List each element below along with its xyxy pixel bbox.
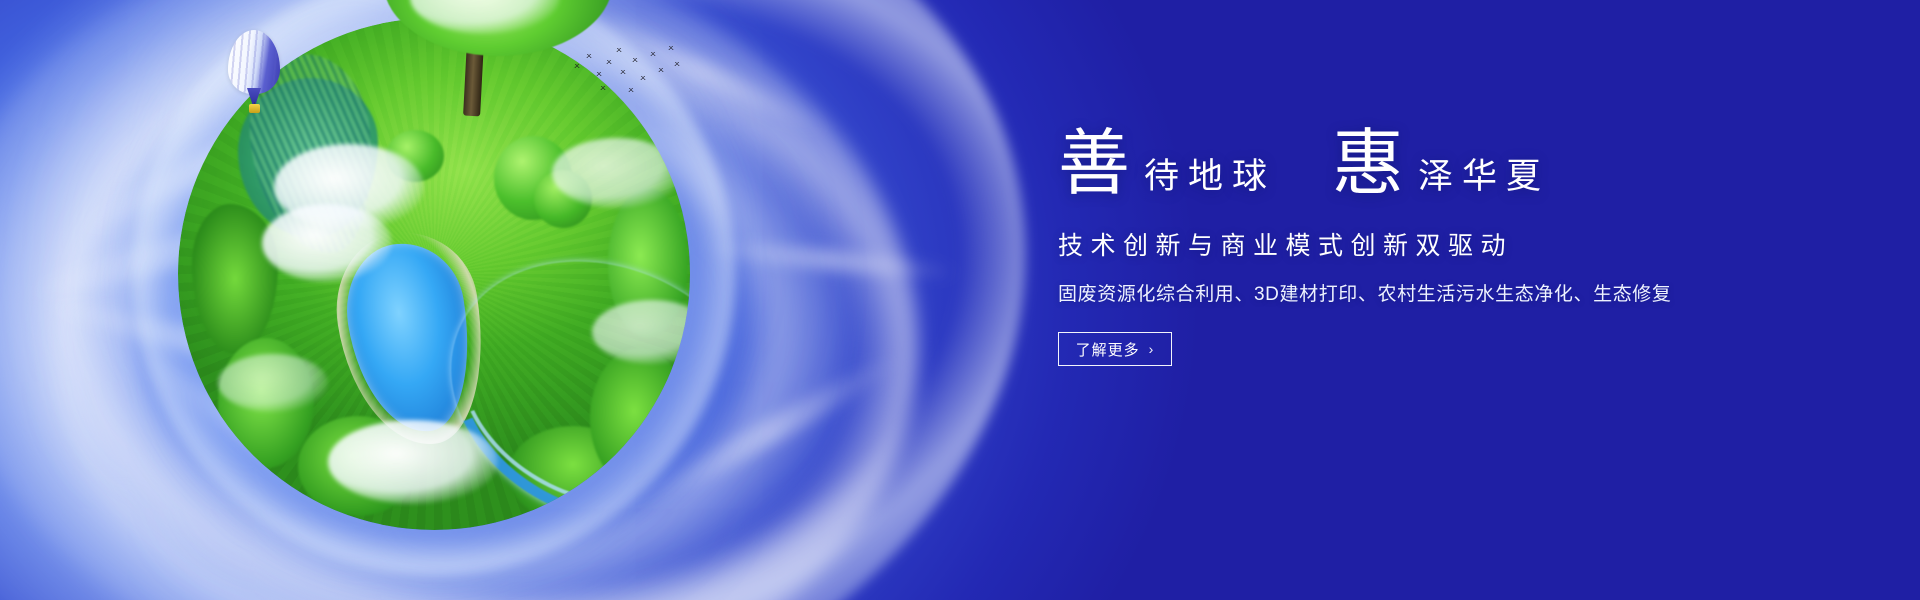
headline-char-2: 惠 [1332, 128, 1404, 200]
bird-icon [628, 88, 634, 92]
bird-icon [632, 58, 638, 62]
banner-content: 善 待地球 惠 泽华夏 技术创新与商业模式创新双驱动 固废资源化综合利用、3D建… [1058, 128, 1758, 366]
bird-icon [674, 62, 680, 66]
bird-icon [668, 46, 674, 50]
planet-cloud [218, 354, 328, 412]
planet-cloud [262, 204, 392, 282]
bird-icon [606, 60, 612, 64]
bird-icon [658, 68, 664, 72]
bird-flock [570, 42, 690, 102]
learn-more-label: 了解更多 [1076, 339, 1140, 360]
bird-icon [616, 48, 622, 52]
chevron-right-icon: › [1149, 341, 1155, 357]
headline-sub-2: 泽华夏 [1418, 159, 1550, 194]
bird-icon [650, 52, 656, 56]
hero-banner: 善 待地球 惠 泽华夏 技术创新与商业模式创新双驱动 固废资源化综合利用、3D建… [0, 0, 1920, 600]
bird-icon [640, 76, 646, 80]
bird-icon [596, 72, 602, 76]
bird-icon [586, 54, 592, 58]
planet-cloud [552, 138, 682, 208]
balloon-envelope [228, 30, 280, 94]
cloud-wisp [700, 236, 961, 283]
hot-air-balloon [228, 30, 280, 116]
bird-icon [620, 70, 626, 74]
balloon-basket [249, 104, 260, 113]
headline: 善 待地球 惠 泽华夏 [1058, 128, 1758, 200]
headline-sub-1: 待地球 [1144, 159, 1276, 194]
bird-icon [574, 64, 580, 68]
tertiary-text: 固废资源化综合利用、3D建材打印、农村生活污水生态净化、生态修复 [1058, 279, 1758, 306]
learn-more-button[interactable]: 了解更多 › [1058, 332, 1172, 366]
headline-char-1: 善 [1058, 128, 1130, 200]
planet-cloud [328, 420, 498, 504]
subtitle: 技术创新与商业模式创新双驱动 [1058, 226, 1758, 262]
bird-icon [600, 86, 606, 90]
tiny-planet-globe [178, 18, 690, 530]
